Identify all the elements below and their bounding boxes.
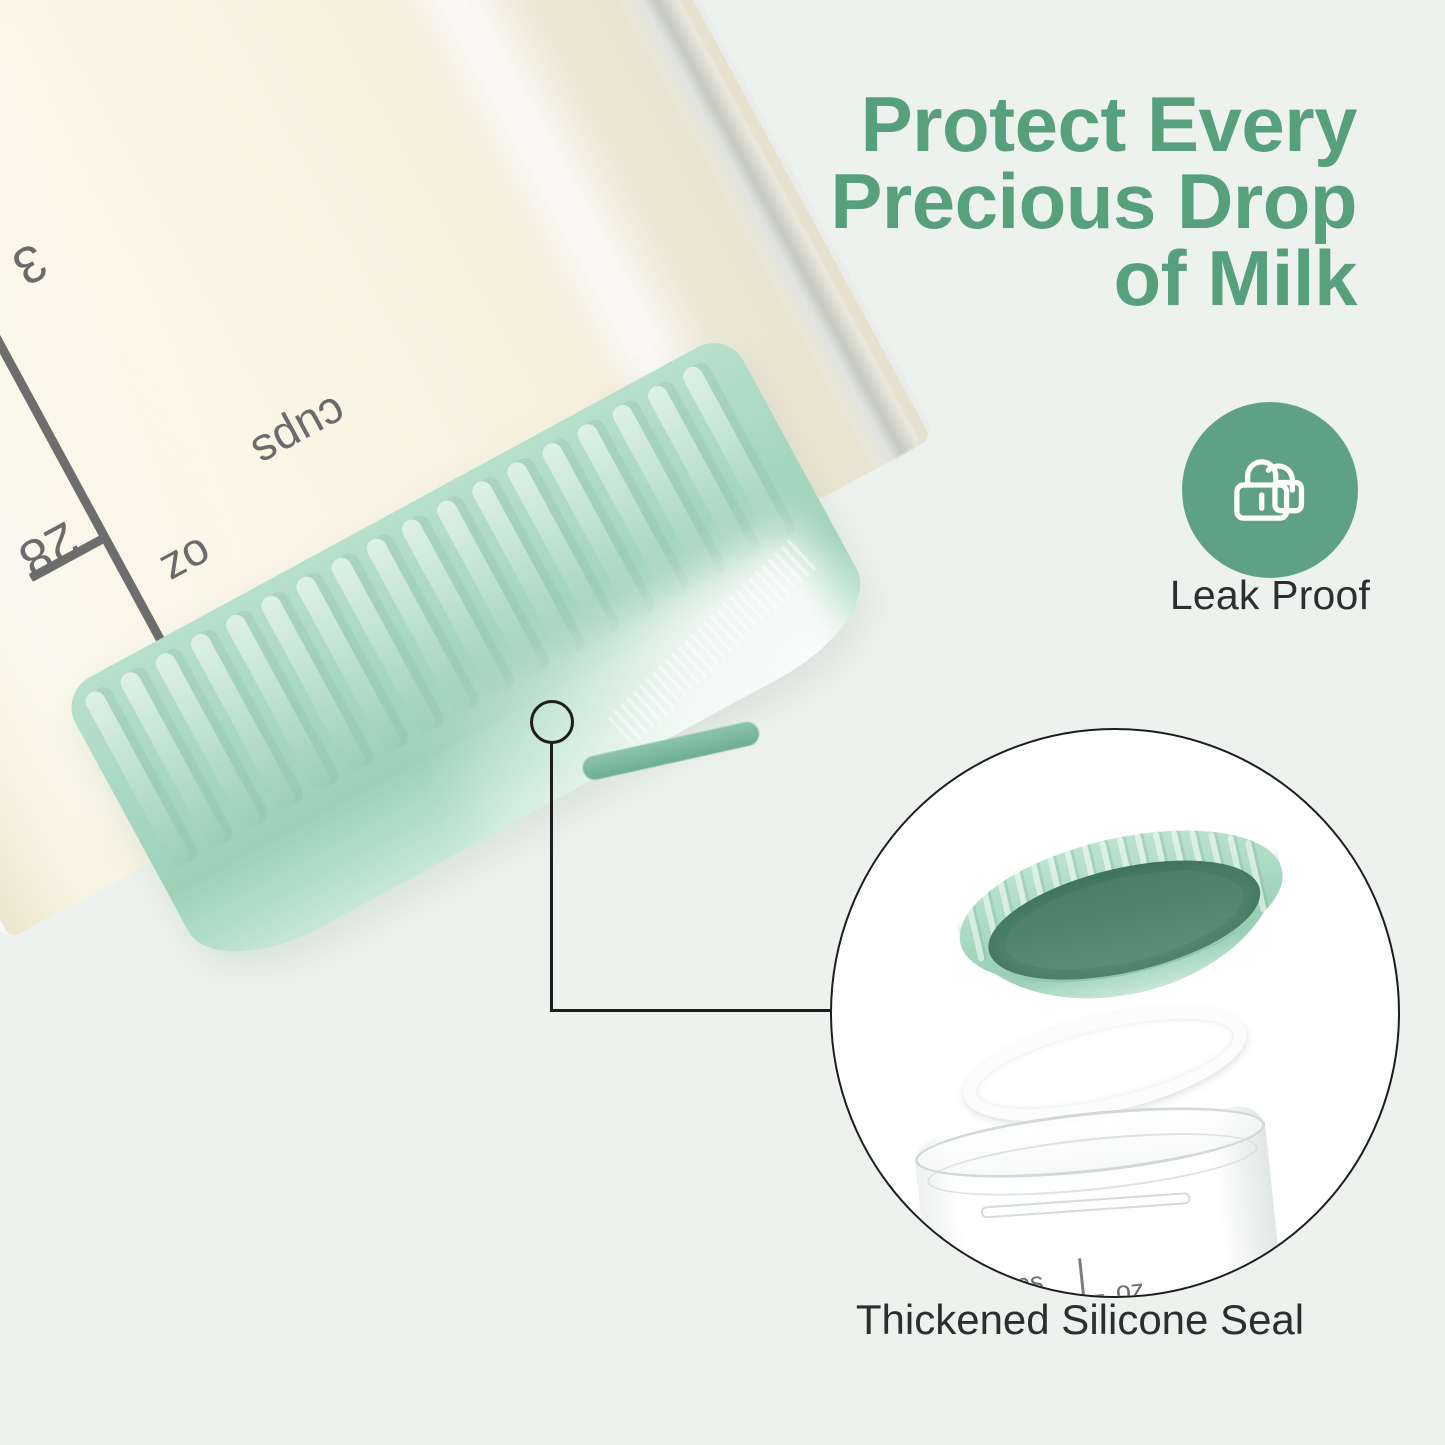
detail-callout-marker: [530, 700, 574, 744]
inset-bottle-neck: cups oz 28 m: [913, 1104, 1287, 1298]
scale-label-cups-3: 3: [2, 231, 56, 298]
product-marketing-image: 16 20 24 28 2 3 oz cups: [0, 0, 1445, 1445]
scale-label-oz-28: 28: [9, 509, 89, 590]
scale-axis-line: [0, 0, 208, 722]
scale-unit-cups: cups: [243, 385, 356, 480]
leak-proof-label: Leak Proof: [1080, 572, 1445, 619]
scale-unit-oz: oz: [152, 526, 221, 597]
leak-proof-badge: [1182, 402, 1358, 578]
inset-lid: [945, 803, 1305, 1043]
headline-line-3: of Milk: [717, 240, 1357, 317]
inset-label-oz: oz: [1114, 1274, 1146, 1298]
headline: Protect Every Precious Drop of Milk: [717, 86, 1357, 318]
inset-caption: Thickened Silicone Seal: [760, 1296, 1400, 1344]
inset-tick-major: [1078, 1258, 1087, 1298]
double-padlock-icon: [1217, 437, 1323, 543]
headline-line-1: Protect Every: [717, 86, 1357, 163]
callout-leader-line-vertical: [550, 742, 553, 1012]
inset-label-cups: cups: [985, 1266, 1045, 1298]
silicone-seal-detail-inset: cups oz 28 m: [830, 728, 1400, 1298]
headline-line-2: Precious Drop: [717, 163, 1357, 240]
callout-leader-line-horizontal: [550, 1009, 860, 1012]
